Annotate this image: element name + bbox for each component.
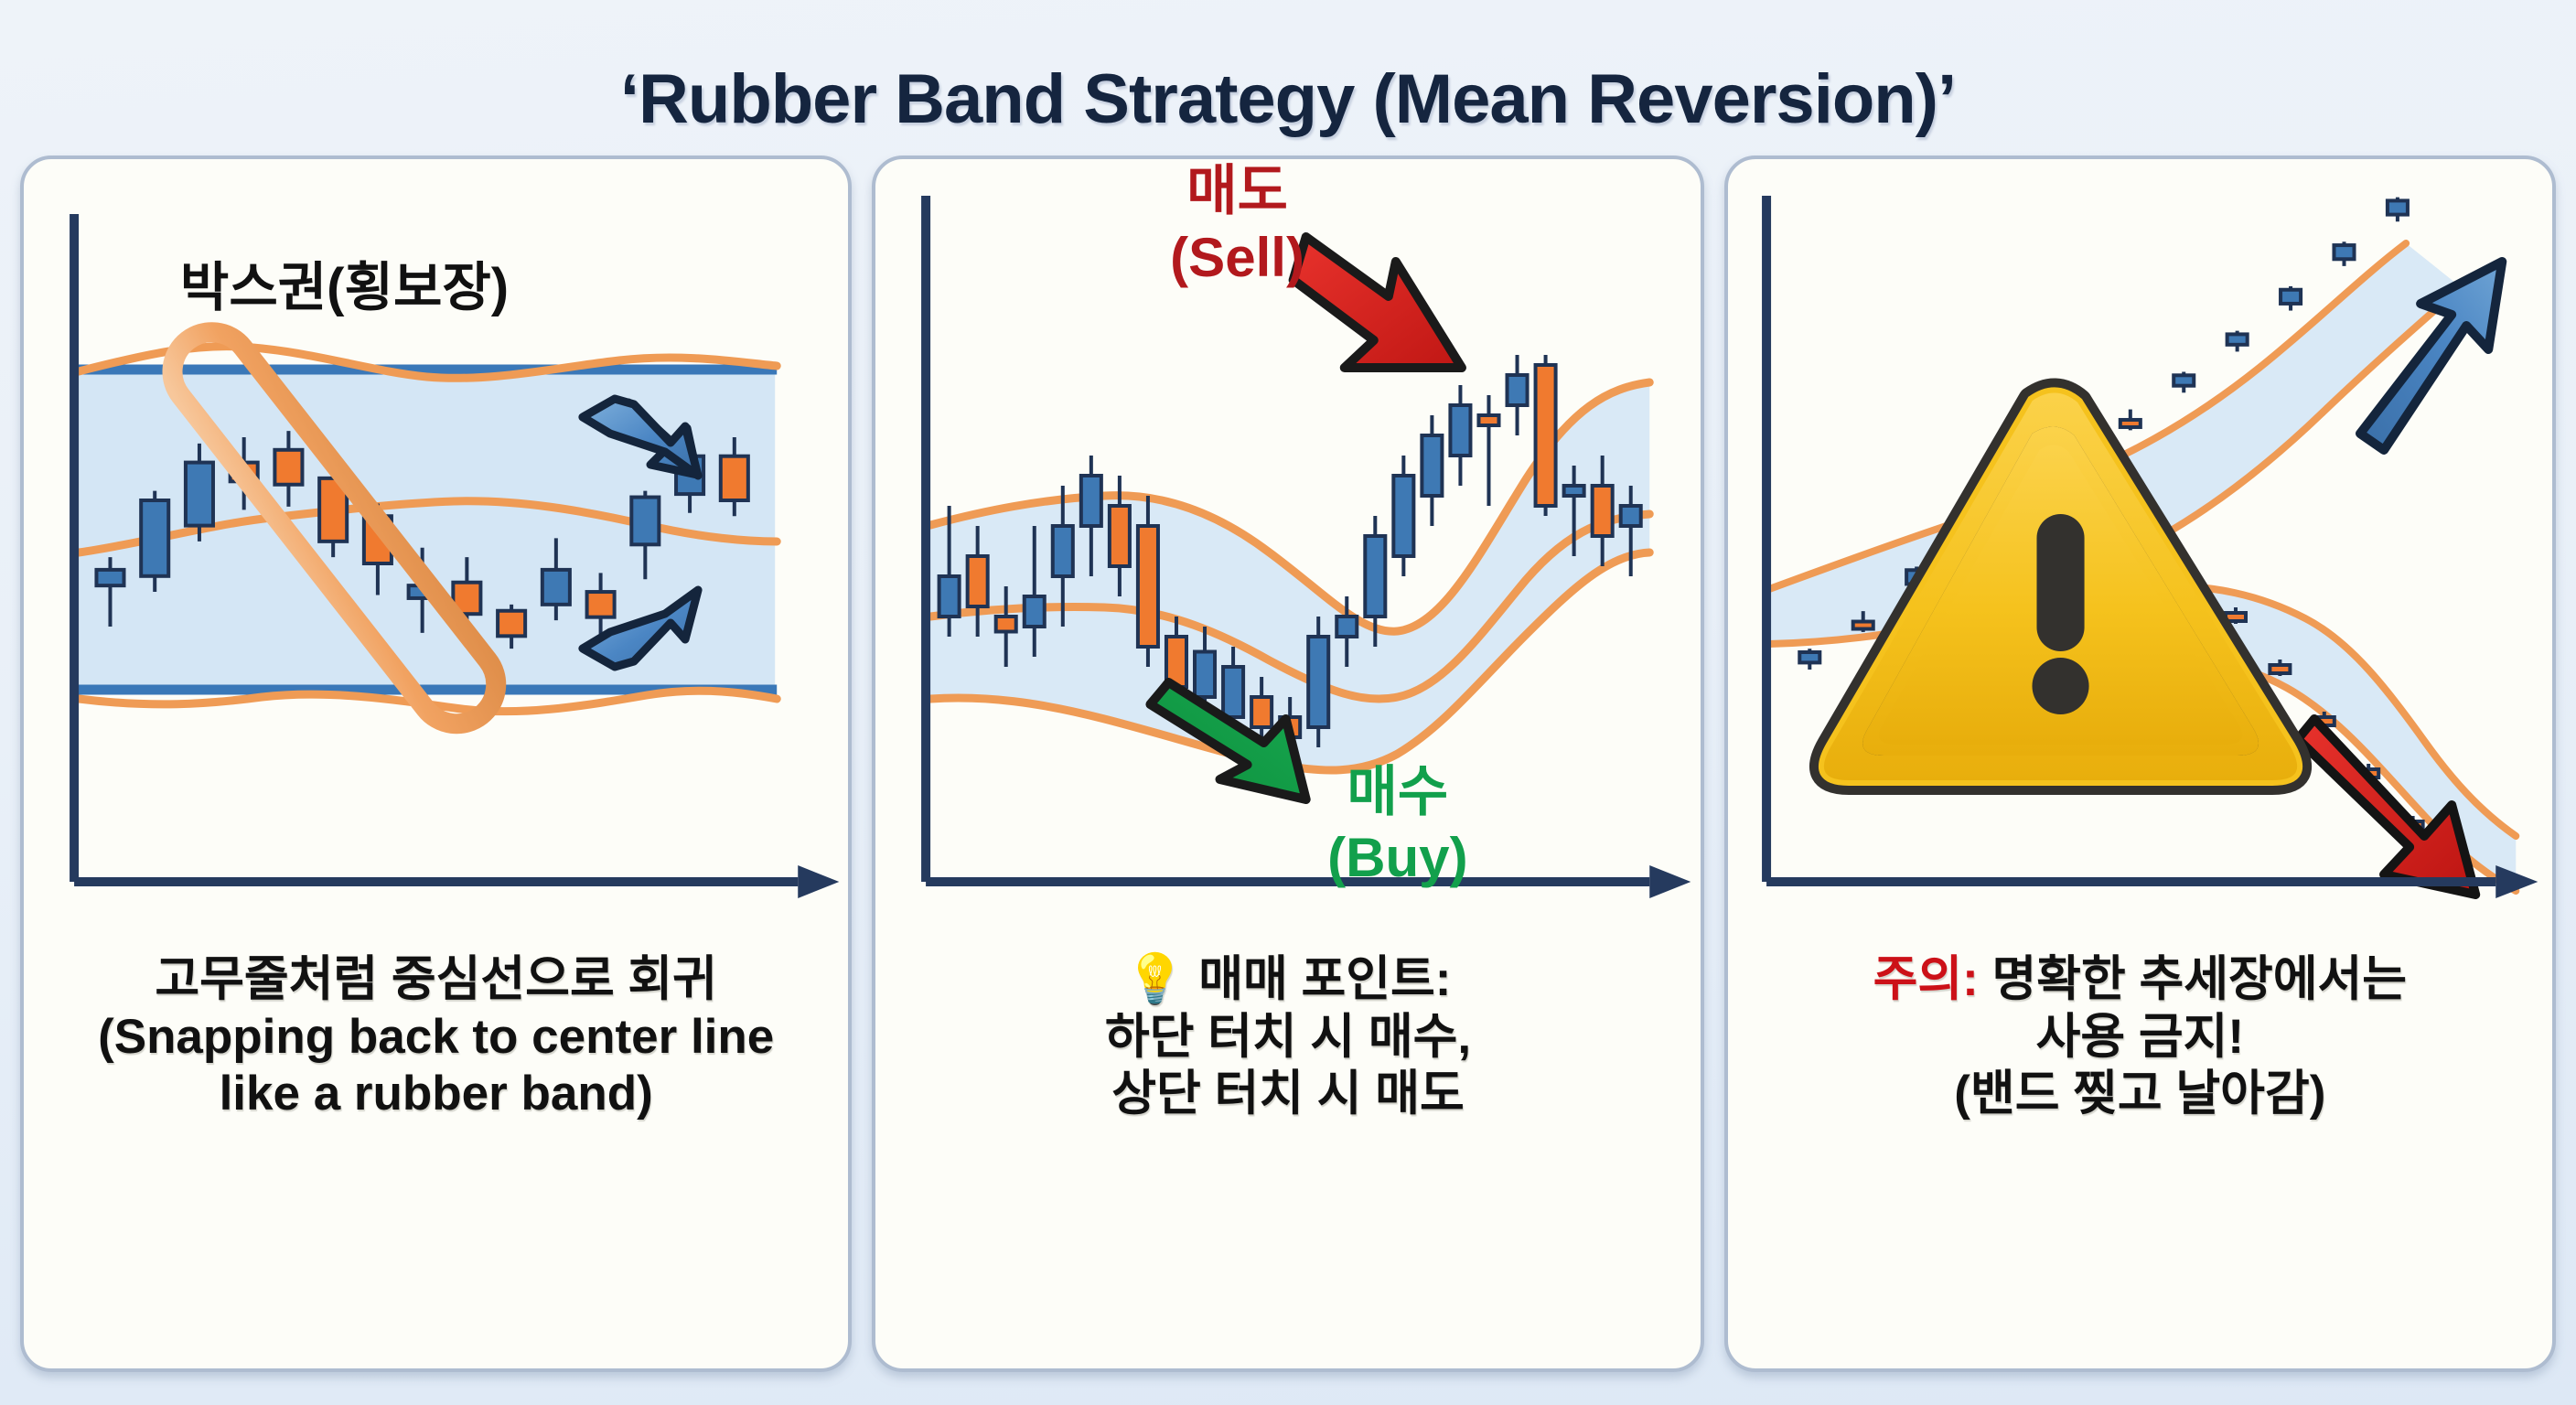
sideways-chart-svg: 박스권(횡보장) bbox=[24, 159, 848, 946]
warning-keyword: 주의: bbox=[1873, 952, 1979, 1006]
signals-chart-svg: 매도 (Sell) 매수 (Buy) bbox=[875, 159, 1700, 946]
panel-signals: 매도 (Sell) 매수 (Buy) 💡 매매 포인트: 하단 터치 시 매수,… bbox=[872, 156, 1703, 1372]
sideways-range-label: 박스권(횡보장) bbox=[180, 258, 509, 317]
panel-container: 박스권(횡보장) 고무줄처럼 중심선으로 회귀 (Snapping back t… bbox=[20, 156, 2556, 1372]
warning-caption: 주의: 명확한 추세장에서는 사용 금지! (밴드 찢고 날아감) bbox=[1728, 946, 2552, 1368]
red-sell-arrow bbox=[1293, 237, 1462, 368]
exclamation-dot bbox=[2032, 658, 2088, 714]
caption-line-1: 주의: 명확한 추세장에서는 bbox=[1873, 951, 2407, 1009]
caption-line-3: like a rubber band) bbox=[220, 1066, 653, 1123]
warning-rest: 명확한 추세장에서는 bbox=[1979, 952, 2407, 1006]
caption-line-3: 상단 터치 시 매도 bbox=[1111, 1066, 1465, 1123]
caption-line-2: (Snapping back to center line bbox=[98, 1009, 774, 1067]
buy-label-en: (Buy) bbox=[1327, 827, 1468, 888]
exclamation-bar bbox=[2036, 514, 2084, 651]
warning-chart-svg bbox=[1728, 159, 2552, 946]
page-title: ‘Rubber Band Strategy (Mean Reversion)’ bbox=[0, 59, 2576, 139]
buy-label-kr: 매수 bbox=[1347, 761, 1449, 822]
sideways-chart: 박스권(횡보장) bbox=[24, 159, 848, 946]
panel-sideways: 박스권(횡보장) 고무줄처럼 중심선으로 회귀 (Snapping back t… bbox=[20, 156, 852, 1372]
warning-chart bbox=[1728, 159, 2552, 946]
sell-label-en: (Sell) bbox=[1170, 227, 1304, 288]
caption-line-2: 하단 터치 시 매수, bbox=[1105, 1009, 1471, 1067]
caption-line-2: 사용 금지! bbox=[2036, 1009, 2244, 1067]
caption-line-1: 고무줄처럼 중심선으로 회귀 bbox=[155, 951, 717, 1009]
sideways-caption: 고무줄처럼 중심선으로 회귀 (Snapping back to center … bbox=[24, 946, 848, 1368]
caption-line-3: (밴드 찢고 날아감) bbox=[1954, 1066, 2325, 1123]
signals-caption: 💡 매매 포인트: 하단 터치 시 매수, 상단 터치 시 매도 bbox=[875, 946, 1700, 1368]
x-axis-arrowhead bbox=[1650, 865, 1691, 898]
caption-line-1: 💡 매매 포인트: bbox=[1125, 951, 1452, 1009]
x-axis-arrowhead bbox=[798, 865, 839, 898]
signals-chart: 매도 (Sell) 매수 (Buy) bbox=[875, 159, 1700, 946]
panel-warning: 주의: 명확한 추세장에서는 사용 금지! (밴드 찢고 날아감) bbox=[1724, 156, 2556, 1372]
sell-label-kr: 매도 bbox=[1187, 160, 1289, 221]
